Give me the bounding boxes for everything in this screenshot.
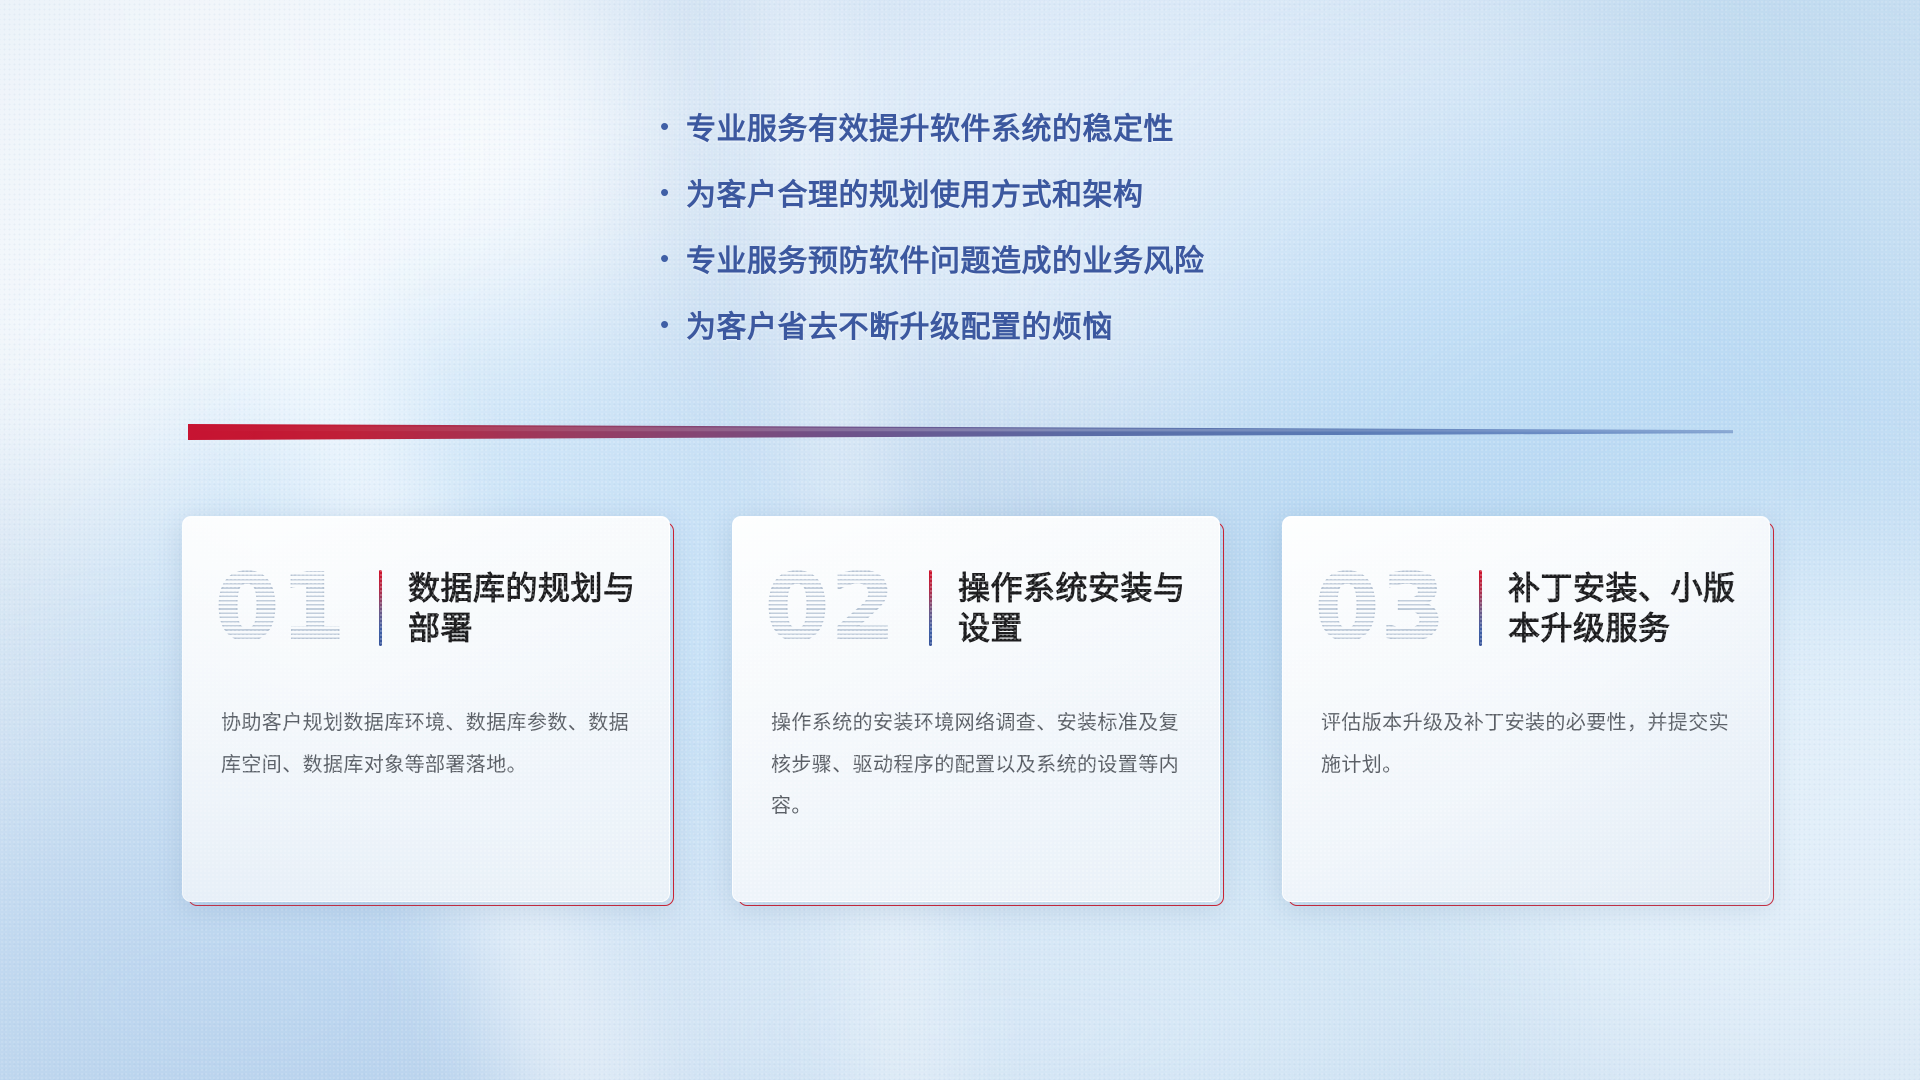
card-header: 01 数据库的规划与部署 <box>183 549 669 667</box>
card-description: 评估版本升级及补丁安装的必要性，并提交实施计划。 <box>1321 703 1735 786</box>
card-divider-rule <box>1479 570 1482 646</box>
card-divider-rule <box>379 570 382 646</box>
card-title: 操作系统安装与设置 <box>958 568 1219 649</box>
service-card[interactable]: 02 操作系统安装与设置 操作系统的安装环境网络调查、安装标准及复核步骤、驱动程… <box>732 516 1224 906</box>
card-number: 01 <box>183 562 379 654</box>
list-item: • 专业服务有效提升软件系统的稳定性 <box>660 112 1420 148</box>
bullet-marker-icon: • <box>660 311 686 337</box>
bullet-text: 为客户合理的规划使用方式和架构 <box>686 178 1144 214</box>
bullet-marker-icon: • <box>660 245 686 271</box>
card-title: 补丁安装、小版本升级服务 <box>1508 568 1769 649</box>
card-number: 02 <box>733 562 929 654</box>
card-header: 02 操作系统安装与设置 <box>733 549 1219 667</box>
card-header: 03 补丁安装、小版本升级服务 <box>1283 549 1769 667</box>
card-group: 01 数据库的规划与部署 协助客户规划数据库环境、数据库参数、数据库空间、数据库… <box>182 516 1774 906</box>
section-divider <box>188 424 1733 440</box>
card-description: 协助客户规划数据库环境、数据库参数、数据库空间、数据库对象等部署落地。 <box>221 703 635 786</box>
service-card[interactable]: 03 补丁安装、小版本升级服务 评估版本升级及补丁安装的必要性，并提交实施计划。 <box>1282 516 1774 906</box>
bullet-text: 专业服务预防软件问题造成的业务风险 <box>686 244 1205 280</box>
card-surface: 01 数据库的规划与部署 协助客户规划数据库环境、数据库参数、数据库空间、数据库… <box>182 516 670 902</box>
card-surface: 03 补丁安装、小版本升级服务 评估版本升级及补丁安装的必要性，并提交实施计划。 <box>1282 516 1770 902</box>
bullet-marker-icon: • <box>660 179 686 205</box>
list-item: • 为客户合理的规划使用方式和架构 <box>660 178 1420 214</box>
bullet-text: 专业服务有效提升软件系统的稳定性 <box>686 112 1174 148</box>
card-title: 数据库的规划与部署 <box>408 568 669 649</box>
card-divider-rule <box>929 570 932 646</box>
list-item: • 专业服务预防软件问题造成的业务风险 <box>660 244 1420 280</box>
card-number: 03 <box>1283 562 1479 654</box>
list-item: • 为客户省去不断升级配置的烦恼 <box>660 310 1420 346</box>
service-card[interactable]: 01 数据库的规划与部署 协助客户规划数据库环境、数据库参数、数据库空间、数据库… <box>182 516 674 906</box>
bullet-text: 为客户省去不断升级配置的烦恼 <box>686 310 1113 346</box>
divider-gradient-bar <box>188 424 1733 440</box>
bullet-list: • 专业服务有效提升软件系统的稳定性 • 为客户合理的规划使用方式和架构 • 专… <box>660 112 1420 376</box>
bullet-marker-icon: • <box>660 113 686 139</box>
card-description: 操作系统的安装环境网络调查、安装标准及复核步骤、驱动程序的配置以及系统的设置等内… <box>771 703 1185 828</box>
card-surface: 02 操作系统安装与设置 操作系统的安装环境网络调查、安装标准及复核步骤、驱动程… <box>732 516 1220 902</box>
